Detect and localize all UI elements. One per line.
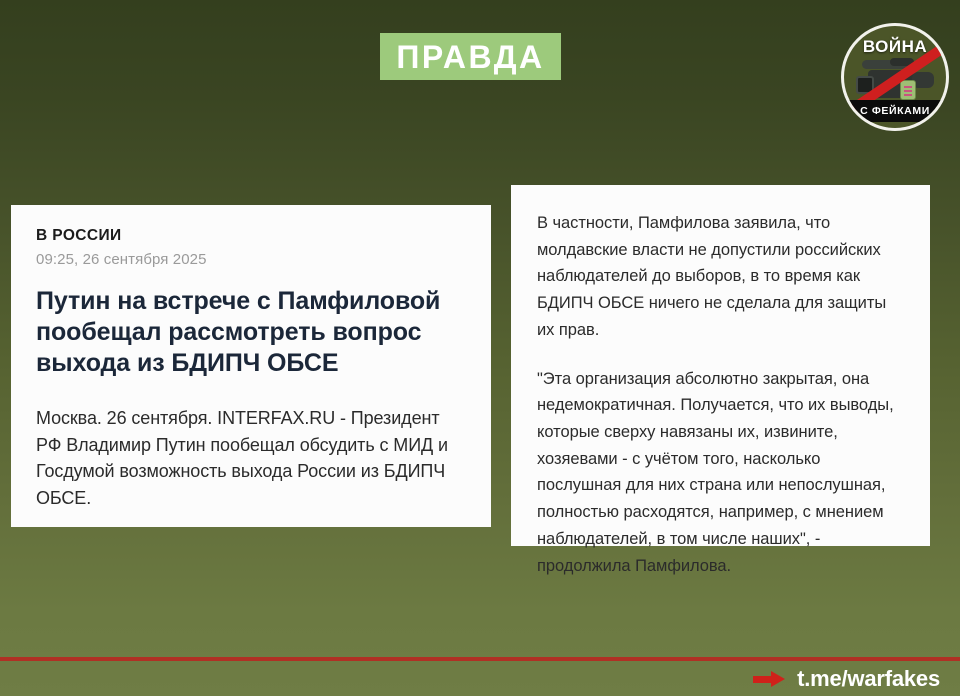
logo-bottom-label: С ФЕЙКАМИ	[860, 105, 930, 117]
article-lead-paragraph: Москва. 26 сентября. INTERFAX.RU - Прези…	[36, 405, 466, 512]
article-card: В РОССИИ 09:25, 26 сентября 2025 Путин н…	[11, 205, 491, 527]
footer-divider	[0, 657, 960, 661]
quote-paragraph-2: "Эта организация абсолютно закрытая, она…	[537, 366, 904, 580]
article-kicker: В РОССИИ	[36, 227, 466, 245]
footer-channel-link[interactable]: t.me/warfakes	[753, 666, 940, 692]
right-arrow-icon	[753, 671, 787, 687]
footer-link-label: t.me/warfakes	[797, 666, 940, 692]
quote-paragraph-1: В частности, Памфилова заявила, что молд…	[537, 210, 904, 344]
quote-card: В частности, Памфилова заявила, что молд…	[511, 185, 930, 546]
warfakes-logo: ВОЙНА С ФЕЙКАМИ	[841, 23, 949, 131]
pravda-banner-label: ПРАВДА	[396, 41, 544, 73]
article-timestamp: 09:25, 26 сентября 2025	[36, 251, 466, 268]
pravda-banner: ПРАВДА	[380, 33, 561, 80]
grenade-icon	[900, 80, 916, 100]
logo-bottom-banner: С ФЕЙКАМИ	[842, 100, 948, 122]
article-headline: Путин на встрече с Памфиловой пообещал р…	[36, 286, 466, 379]
logo-inner: ВОЙНА С ФЕЙКАМИ	[844, 26, 946, 128]
poster-canvas: ПРАВДА ВОЙНА С ФЕЙКАМИ В РОССИИ 09:25, 2…	[0, 0, 960, 696]
